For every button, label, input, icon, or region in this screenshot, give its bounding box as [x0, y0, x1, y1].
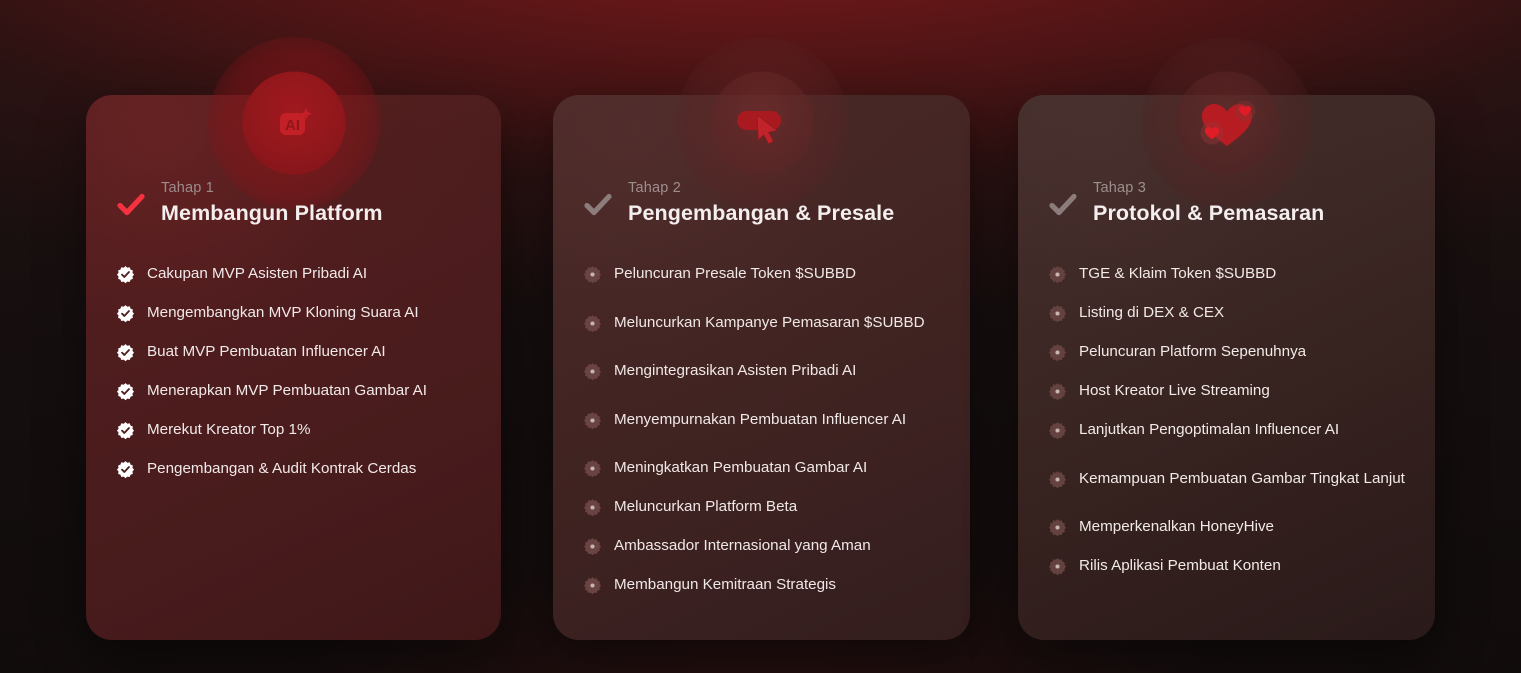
list-item: Peluncuran Presale Token $SUBBD — [583, 255, 946, 294]
badge-dot-icon — [583, 411, 602, 430]
verified-badge-check-icon — [116, 304, 135, 323]
card-header: Tahap 3 Protokol & Pemasaran — [1048, 180, 1324, 226]
milestone-list: Peluncuran Presale Token $SUBBD Meluncur… — [583, 255, 946, 605]
list-item-label: Mengembangkan MVP Kloning Suara AI — [147, 303, 419, 323]
list-item-label: Buat MVP Pembuatan Influencer AI — [147, 342, 386, 362]
list-item-label: Lanjutkan Pengoptimalan Influencer AI — [1079, 420, 1339, 440]
check-icon — [116, 191, 146, 221]
list-item: Menerapkan MVP Pembuatan Gambar AI — [116, 372, 477, 411]
hearts-icon — [1192, 88, 1262, 158]
list-item: Ambassador Internasional yang Aman — [583, 527, 946, 566]
svg-text:AI: AI — [285, 117, 300, 134]
roadmap-card-stage-3: Tahap 3 Protokol & Pemasaran TGE & Klaim… — [1018, 95, 1435, 640]
list-item: Peluncuran Platform Sepenuhnya — [1048, 333, 1411, 372]
badge-dot-icon — [583, 314, 602, 333]
list-item-label: Rilis Aplikasi Pembuat Konten — [1079, 556, 1281, 576]
list-item: Buat MVP Pembuatan Influencer AI — [116, 333, 477, 372]
card-title: Protokol & Pemasaran — [1093, 201, 1324, 226]
list-item-label: Host Kreator Live Streaming — [1079, 381, 1270, 401]
milestone-list: TGE & Klaim Token $SUBBD Listing di DEX … — [1048, 255, 1411, 586]
badge-dot-icon — [583, 265, 602, 284]
list-item-label: Cakupan MVP Asisten Pribadi AI — [147, 264, 367, 284]
list-item-label: Menerapkan MVP Pembuatan Gambar AI — [147, 381, 427, 401]
badge-dot-icon — [1048, 557, 1067, 576]
list-item-label: TGE & Klaim Token $SUBBD — [1079, 264, 1276, 284]
milestone-list: Cakupan MVP Asisten Pribadi AI Mengemban… — [116, 255, 477, 489]
list-item-label: Kemampuan Pembuatan Gambar Tingkat Lanju… — [1079, 469, 1405, 489]
list-item-label: Meluncurkan Kampanye Pemasaran $SUBBD — [614, 313, 925, 333]
badge-dot-icon — [1048, 382, 1067, 401]
list-item: Listing di DEX & CEX — [1048, 294, 1411, 333]
badge-dot-icon — [1048, 304, 1067, 323]
card-title: Membangun Platform — [161, 201, 383, 226]
badge-dot-icon — [1048, 470, 1067, 489]
list-item: Host Kreator Live Streaming — [1048, 372, 1411, 411]
check-icon — [583, 191, 613, 221]
list-item: Rilis Aplikasi Pembuat Konten — [1048, 547, 1411, 586]
list-item-label: Ambassador Internasional yang Aman — [614, 536, 871, 556]
list-item: Pengembangan & Audit Kontrak Cerdas — [116, 450, 477, 489]
list-item: Meningkatkan Pembuatan Gambar AI — [583, 449, 946, 488]
badge-dot-icon — [1048, 265, 1067, 284]
list-item: TGE & Klaim Token $SUBBD — [1048, 255, 1411, 294]
list-item-label: Membangun Kemitraan Strategis — [614, 575, 836, 595]
list-item-label: Pengembangan & Audit Kontrak Cerdas — [147, 459, 416, 479]
ai-sparkle-icon: AI — [259, 88, 329, 158]
list-item-label: Mengintegrasikan Asisten Pribadi AI — [614, 361, 856, 381]
list-item-label: Peluncuran Platform Sepenuhnya — [1079, 342, 1306, 362]
list-item-label: Merekut Kreator Top 1% — [147, 420, 311, 440]
verified-badge-check-icon — [116, 382, 135, 401]
click-cursor-button-icon — [727, 88, 797, 158]
list-item: Kemampuan Pembuatan Gambar Tingkat Lanju… — [1048, 450, 1411, 508]
roadmap-section: AI Tahap 1 Membangun Platform Caku — [0, 0, 1521, 673]
list-item: Lanjutkan Pengoptimalan Influencer AI — [1048, 411, 1411, 450]
badge-dot-icon — [1048, 518, 1067, 537]
list-item-label: Meluncurkan Platform Beta — [614, 497, 797, 517]
check-icon — [1048, 191, 1078, 221]
list-item: Memperkenalkan HoneyHive — [1048, 508, 1411, 547]
list-item: Meluncurkan Platform Beta — [583, 488, 946, 527]
stage-label: Tahap 2 — [628, 180, 894, 196]
verified-badge-check-icon — [116, 343, 135, 362]
card-header: Tahap 2 Pengembangan & Presale — [583, 180, 894, 226]
list-item: Meluncurkan Kampanye Pemasaran $SUBBD — [583, 294, 946, 352]
list-item: Membangun Kemitraan Strategis — [583, 566, 946, 605]
badge-dot-icon — [583, 498, 602, 517]
list-item-label: Meningkatkan Pembuatan Gambar AI — [614, 458, 867, 478]
list-item-label: Menyempurnakan Pembuatan Influencer AI — [614, 410, 906, 430]
list-item: Cakupan MVP Asisten Pribadi AI — [116, 255, 477, 294]
verified-badge-check-icon — [116, 265, 135, 284]
badge-dot-icon — [583, 362, 602, 381]
list-item-label: Peluncuran Presale Token $SUBBD — [614, 264, 856, 284]
card-header: Tahap 1 Membangun Platform — [116, 180, 383, 226]
badge-dot-icon — [1048, 421, 1067, 440]
badge-dot-icon — [583, 576, 602, 595]
card-title: Pengembangan & Presale — [628, 201, 894, 226]
stage-label: Tahap 3 — [1093, 180, 1324, 196]
badge-dot-icon — [583, 459, 602, 478]
stage-label: Tahap 1 — [161, 180, 383, 196]
roadmap-card-stage-1: AI Tahap 1 Membangun Platform Caku — [86, 95, 501, 640]
list-item: Menyempurnakan Pembuatan Influencer AI — [583, 391, 946, 449]
list-item-label: Memperkenalkan HoneyHive — [1079, 517, 1274, 537]
list-item: Mengembangkan MVP Kloning Suara AI — [116, 294, 477, 333]
list-item: Merekut Kreator Top 1% — [116, 411, 477, 450]
verified-badge-check-icon — [116, 421, 135, 440]
list-item: Mengintegrasikan Asisten Pribadi AI — [583, 352, 946, 391]
roadmap-card-stage-2: Tahap 2 Pengembangan & Presale Peluncura… — [553, 95, 970, 640]
verified-badge-check-icon — [116, 460, 135, 479]
list-item-label: Listing di DEX & CEX — [1079, 303, 1224, 323]
badge-dot-icon — [1048, 343, 1067, 362]
badge-dot-icon — [583, 537, 602, 556]
